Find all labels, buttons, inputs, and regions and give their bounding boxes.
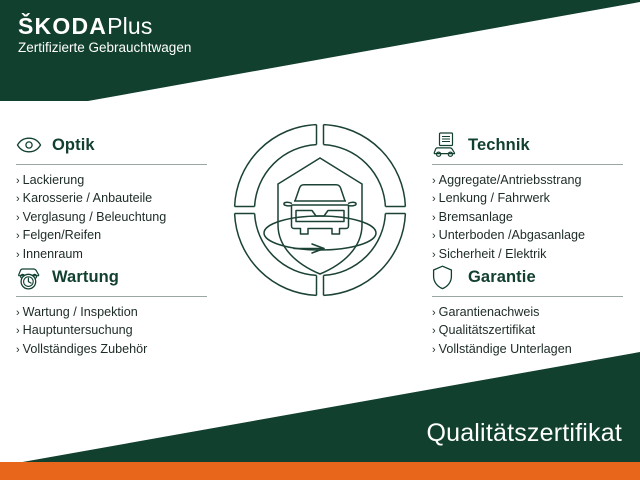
- list-item: ›Felgen/Reifen: [16, 227, 216, 245]
- footer-green-banner: [0, 352, 640, 466]
- list-item: ›Karosserie / Anbauteile: [16, 190, 216, 208]
- list-item-label: Karosserie / Anbauteile: [23, 190, 153, 207]
- list-item-label: Unterboden /Abgasanlage: [439, 227, 585, 244]
- list-item: ›Qualitätszertifikat: [432, 322, 632, 340]
- eye-icon: [16, 131, 46, 159]
- car-clock-icon: [16, 263, 46, 291]
- section-garantie-title: Garantie: [468, 268, 536, 287]
- chevron-right-icon: ›: [432, 228, 436, 245]
- list-item-label: Hauptuntersuchung: [23, 322, 133, 339]
- chevron-right-icon: ›: [16, 323, 20, 340]
- list-item-label: Sicherheit / Elektrik: [439, 246, 547, 263]
- chevron-right-icon: ›: [432, 191, 436, 208]
- chevron-right-icon: ›: [16, 173, 20, 190]
- chevron-right-icon: ›: [16, 342, 20, 359]
- section-garantie: Garantie ›Garantienachweis ›Qualitätszer…: [432, 262, 632, 359]
- brand-logo: ŠKODAPlus Zertifizierte Gebrauchtwagen: [18, 13, 191, 56]
- footer-caption: Qualitätszertifikat: [426, 418, 622, 448]
- list-item-label: Innenraum: [23, 246, 83, 263]
- chevron-right-icon: ›: [16, 305, 20, 322]
- chevron-right-icon: ›: [432, 210, 436, 227]
- orange-accent-bar: [0, 462, 640, 480]
- list-item: ›Aggregate/Antriebsstrang: [432, 172, 632, 190]
- shield-car-inspection-emblem: [232, 122, 408, 298]
- chevron-right-icon: ›: [432, 305, 436, 322]
- section-optik-title: Optik: [52, 136, 95, 155]
- list-item: ›Unterboden /Abgasanlage: [432, 227, 632, 245]
- car-document-icon: [432, 131, 462, 159]
- list-item-label: Aggregate/Antriebsstrang: [439, 172, 582, 189]
- brand-suffix: Plus: [107, 13, 153, 39]
- list-item: ›Lenkung / Fahrwerk: [432, 190, 632, 208]
- section-optik: Optik ›Lackierung ›Karosserie / Anbautei…: [16, 130, 216, 264]
- list-item-label: Garantienachweis: [439, 304, 540, 321]
- section-technik-header: Technik: [432, 130, 632, 160]
- brand-logo-primary: ŠKODAPlus: [18, 13, 191, 39]
- section-wartung-header: Wartung: [16, 262, 216, 292]
- list-item-label: Vollständige Unterlagen: [439, 341, 572, 358]
- list-item-label: Vollständiges Zubehör: [23, 341, 148, 358]
- list-item-label: Felgen/Reifen: [23, 227, 101, 244]
- list-item-label: Qualitätszertifikat: [439, 322, 536, 339]
- list-item: ›Lackierung: [16, 172, 216, 190]
- section-optik-divider: [16, 164, 207, 165]
- chevron-right-icon: ›: [16, 210, 20, 227]
- brand-tagline: Zertifizierte Gebrauchtwagen: [18, 40, 191, 56]
- list-item-label: Bremsanlage: [439, 209, 513, 226]
- section-garantie-divider: [432, 296, 623, 297]
- chevron-right-icon: ›: [16, 228, 20, 245]
- list-item-label: Wartung / Inspektion: [23, 304, 138, 321]
- chevron-right-icon: ›: [16, 191, 20, 208]
- section-wartung-list: ›Wartung / Inspektion ›Hauptuntersuchung…: [16, 304, 216, 359]
- brand-name: ŠKODA: [18, 13, 107, 39]
- list-item-label: Lenkung / Fahrwerk: [439, 190, 550, 207]
- shield-icon: [432, 263, 462, 291]
- section-technik-divider: [432, 164, 623, 165]
- chevron-right-icon: ›: [432, 342, 436, 359]
- chevron-right-icon: ›: [432, 323, 436, 340]
- section-optik-list: ›Lackierung ›Karosserie / Anbauteile ›Ve…: [16, 172, 216, 264]
- section-technik: Technik ›Aggregate/Antriebsstrang ›Lenku…: [432, 130, 632, 264]
- section-optik-header: Optik: [16, 130, 216, 160]
- list-item: ›Vollständige Unterlagen: [432, 341, 632, 359]
- section-wartung: Wartung ›Wartung / Inspektion ›Hauptunte…: [16, 262, 216, 359]
- list-item: ›Hauptuntersuchung: [16, 322, 216, 340]
- section-technik-title: Technik: [468, 136, 530, 155]
- section-garantie-header: Garantie: [432, 262, 632, 292]
- section-garantie-list: ›Garantienachweis ›Qualitätszertifikat ›…: [432, 304, 632, 359]
- list-item: ›Verglasung / Beleuchtung: [16, 209, 216, 227]
- section-wartung-title: Wartung: [52, 268, 119, 287]
- list-item: ›Garantienachweis: [432, 304, 632, 322]
- list-item: ›Wartung / Inspektion: [16, 304, 216, 322]
- list-item-label: Lackierung: [23, 172, 85, 189]
- chevron-right-icon: ›: [432, 173, 436, 190]
- section-wartung-divider: [16, 296, 207, 297]
- list-item-label: Verglasung / Beleuchtung: [23, 209, 167, 226]
- quality-certificate-page: ŠKODAPlus Zertifizierte Gebrauchtwagen O…: [0, 0, 640, 480]
- list-item: ›Bremsanlage: [432, 209, 632, 227]
- list-item: ›Vollständiges Zubehör: [16, 341, 216, 359]
- section-technik-list: ›Aggregate/Antriebsstrang ›Lenkung / Fah…: [432, 172, 632, 264]
